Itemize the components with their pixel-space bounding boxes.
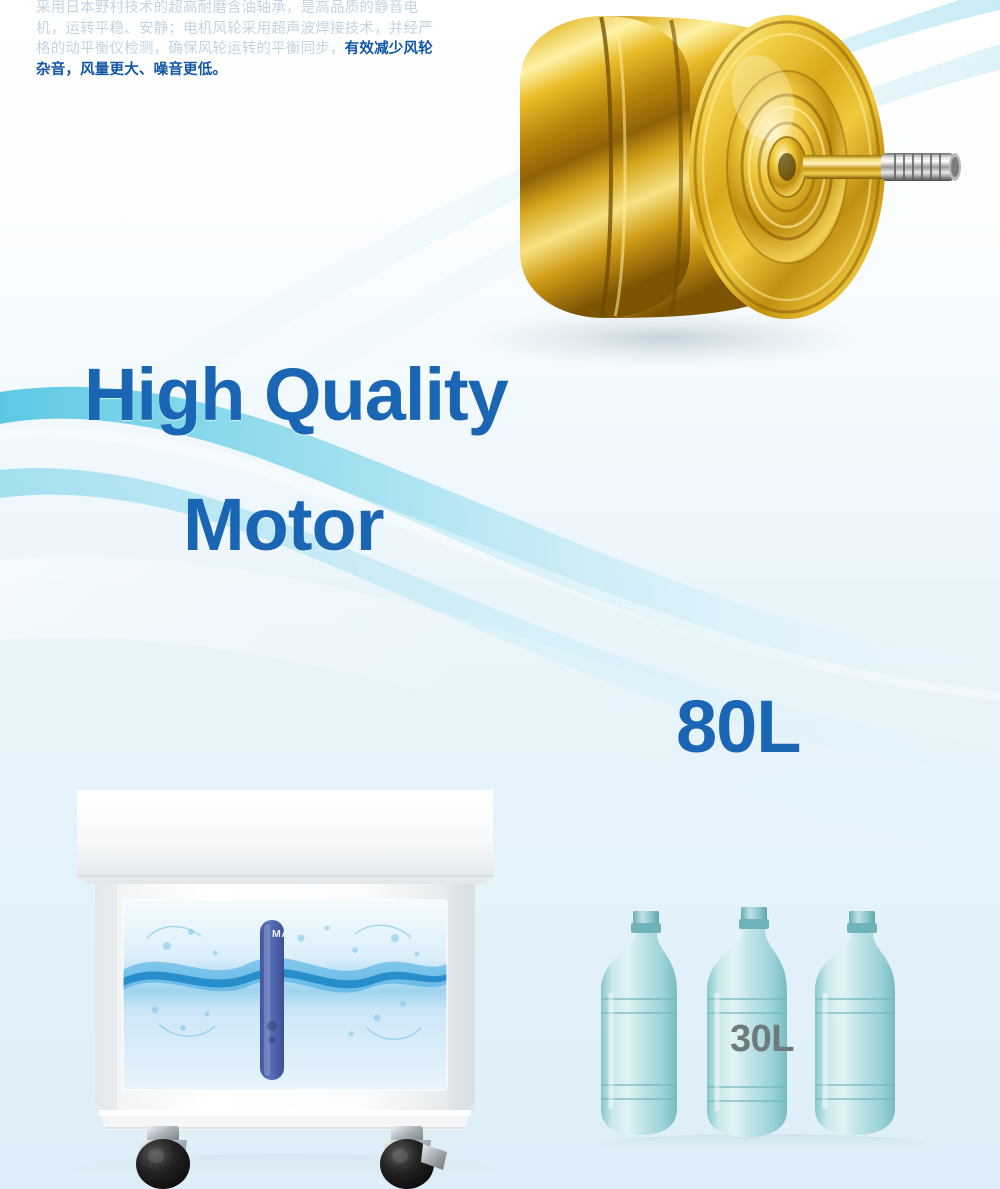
description-line-4-bold: 杂音，风量更大、噪音更低。 (36, 60, 476, 81)
tank-capacity-label: 80L (676, 684, 801, 769)
description-line-3: 格的动平衡仪检测，确保风轮运转的平衡同步，有效减少风轮 (36, 39, 476, 60)
bottle-capacity-label: 30L (730, 1018, 794, 1061)
headline-line-1: High Quality (84, 352, 508, 437)
gold-motor-icon (415, 0, 1000, 370)
description-paragraph: 采用日本野村技术的超高耐磨含油轴承，是高品质的静音电 机，运转平稳、安静；电机风… (36, 0, 476, 80)
description-line-3-plain: 格的动平衡仪检测，确保风轮运转的平衡同步， (36, 41, 345, 57)
max-level-label: MAX (272, 928, 297, 940)
product-feature-panel: 采用日本野村技术的超高耐磨含油轴承，是高品质的静音电 机，运转平稳、安静；电机风… (0, 0, 1000, 1189)
description-line-2: 机，运转平稳、安静；电机风轮采用超声波焊接技术，并经严 (36, 19, 476, 40)
headline-line-2: Motor (183, 482, 384, 567)
caster-wheel-icon (136, 1126, 190, 1189)
description-line-1: 采用日本野村技术的超高耐磨含油轴承，是高品质的静音电 (36, 0, 476, 19)
water-tank-icon (55, 778, 515, 1189)
